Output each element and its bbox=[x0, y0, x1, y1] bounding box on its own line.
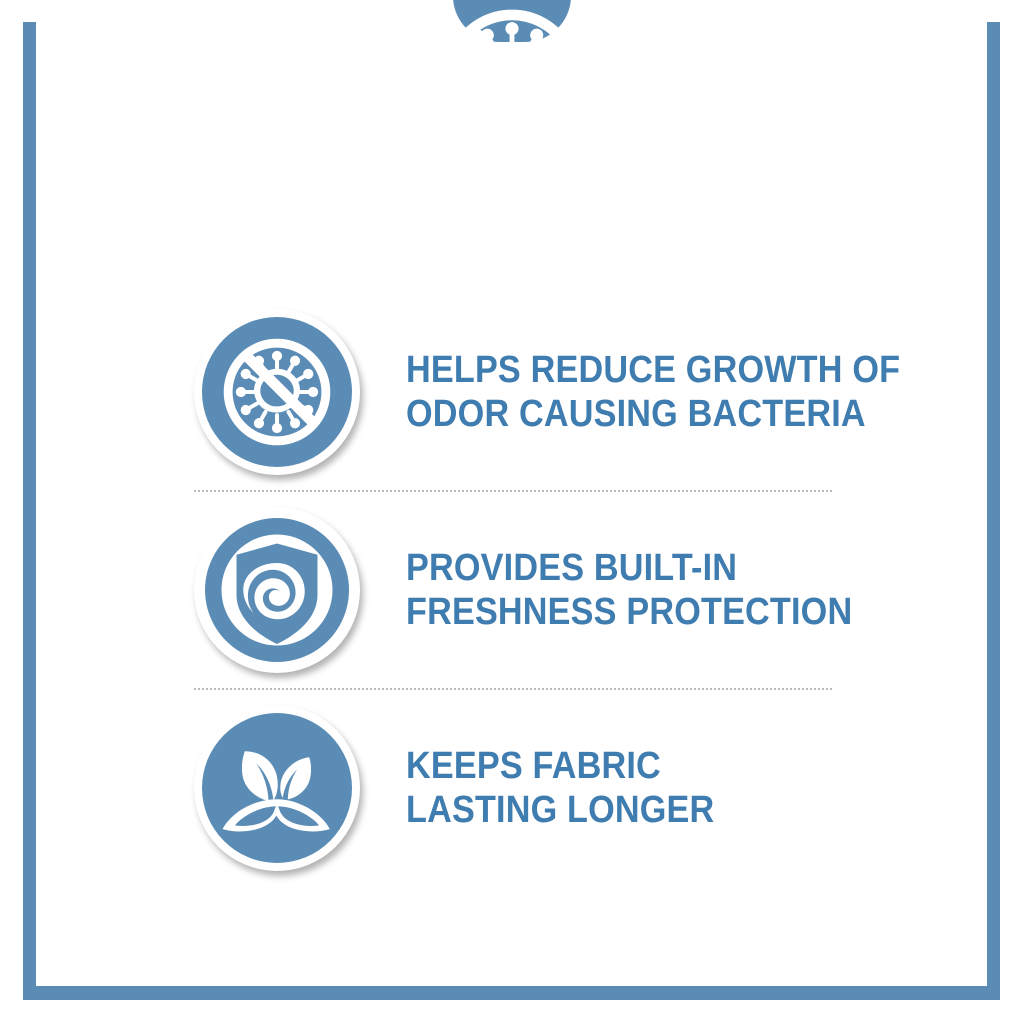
leaves-icon bbox=[202, 713, 352, 863]
feature-badge bbox=[194, 309, 360, 475]
feature-list: HELPS REDUCE GROWTH OF ODOR CAUSING BACT… bbox=[36, 256, 987, 986]
page-title: ANTIMICROBIAL bbox=[72, 164, 953, 220]
feature-text: PROVIDES BUILT-IN FRESHNESS PROTECTION bbox=[406, 546, 852, 634]
no-germ-icon bbox=[436, 2, 588, 154]
no-germ-icon bbox=[202, 317, 352, 467]
feature-line-1: PROVIDES BUILT-IN bbox=[406, 546, 852, 590]
feature-line-1: KEEPS FABRIC bbox=[406, 744, 714, 788]
antimicrobial-infographic: ANTIMICROBIAL bbox=[0, 0, 1024, 1024]
feature-badge bbox=[194, 705, 360, 871]
feature-line-2: LASTING LONGER bbox=[406, 788, 714, 832]
feature-line-1: HELPS REDUCE GROWTH OF bbox=[406, 348, 900, 392]
list-item: HELPS REDUCE GROWTH OF ODOR CAUSING BACT… bbox=[36, 294, 987, 490]
list-item: KEEPS FABRIC LASTING LONGER bbox=[36, 690, 987, 886]
feature-text: HELPS REDUCE GROWTH OF ODOR CAUSING BACT… bbox=[406, 348, 900, 436]
list-item: PROVIDES BUILT-IN FRESHNESS PROTECTION bbox=[36, 492, 987, 688]
feature-text: KEEPS FABRIC LASTING LONGER bbox=[406, 744, 714, 832]
feature-badge bbox=[194, 507, 360, 673]
shield-swirl-icon bbox=[202, 515, 352, 665]
feature-line-2: FRESHNESS PROTECTION bbox=[406, 590, 852, 634]
feature-line-2: ODOR CAUSING BACTERIA bbox=[406, 392, 900, 436]
